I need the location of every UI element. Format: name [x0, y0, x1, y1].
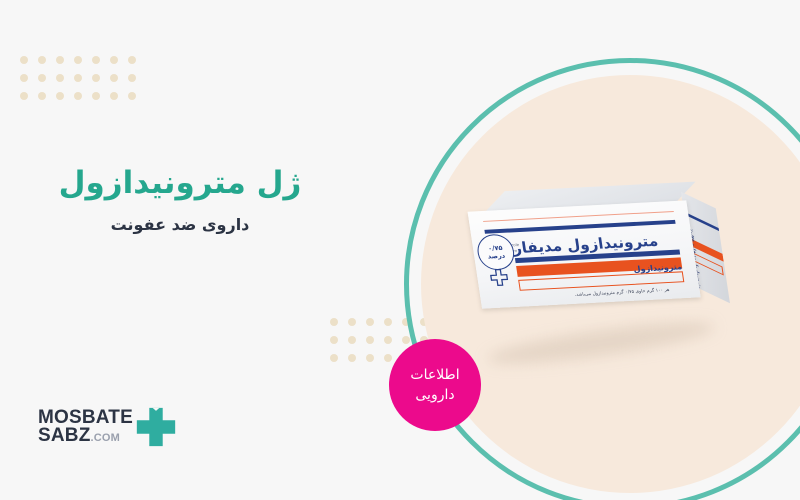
- dot: [330, 336, 338, 344]
- dot: [348, 336, 356, 344]
- brand-logo[interactable]: MOSBATE SABZ.COM: [28, 404, 179, 450]
- dot: [402, 336, 410, 344]
- dot: [366, 318, 374, 326]
- page-title: ژل مترونیدازول: [55, 165, 305, 201]
- drug-info-badge-line2: دارویی: [415, 385, 454, 405]
- medical-cross-icon: [133, 404, 179, 450]
- dot: [330, 354, 338, 362]
- dot: [366, 336, 374, 344]
- dot: [20, 56, 28, 64]
- dot: [74, 92, 82, 100]
- carton-percent-label: درصد: [487, 252, 505, 261]
- dot: [20, 92, 28, 100]
- dot: [20, 74, 28, 82]
- dot: [56, 92, 64, 100]
- dot: [56, 74, 64, 82]
- brand-wordmark: MOSBATE SABZ.COM: [38, 409, 133, 444]
- dot: [348, 318, 356, 326]
- dot: [128, 56, 136, 64]
- dot-pattern-top-left: [20, 56, 136, 100]
- brand-tld: .COM: [91, 432, 121, 444]
- dot: [128, 92, 136, 100]
- dot: [38, 56, 46, 64]
- dot: [348, 354, 356, 362]
- dot: [74, 56, 82, 64]
- dot: [38, 92, 46, 100]
- promo-banner: مترونیدازول مدیفارم ۰/۷۵٪ مترونیدازول مد…: [0, 0, 800, 500]
- dot: [110, 74, 118, 82]
- dot: [110, 56, 118, 64]
- dot: [384, 354, 392, 362]
- page-subtitle: داروی ضد عفونت: [55, 215, 305, 234]
- medicine-carton: مترونیدازول مدیفارم ۰/۷۵٪ مترونیدازول مد…: [459, 166, 747, 378]
- dot: [92, 56, 100, 64]
- drug-info-badge[interactable]: اطلاعات دارویی: [389, 339, 481, 431]
- drug-info-badge-line1: اطلاعات: [410, 365, 459, 385]
- carton-footer-text: هر ۱۰۰ گرم حاوی ۰/۷۵ گرم مترونیدازول می‌…: [574, 288, 669, 298]
- dot: [128, 74, 136, 82]
- dot: [384, 336, 392, 344]
- dot: [38, 74, 46, 82]
- dot: [366, 354, 374, 362]
- dot: [110, 92, 118, 100]
- dot: [74, 74, 82, 82]
- product-image: مترونیدازول مدیفارم ۰/۷۵٪ مترونیدازول مد…: [470, 185, 735, 360]
- carton-front-face: مترونیدازول مدیفارم Metronidazole Mediph…: [468, 200, 701, 308]
- carton-cross-icon: [488, 268, 510, 288]
- headline-block: ژل مترونیدازول داروی ضد عفونت: [55, 165, 305, 234]
- dot: [92, 92, 100, 100]
- brand-word-bottom: SABZ: [38, 425, 91, 446]
- dot: [56, 56, 64, 64]
- dot: [384, 318, 392, 326]
- dot: [330, 318, 338, 326]
- dot: [92, 74, 100, 82]
